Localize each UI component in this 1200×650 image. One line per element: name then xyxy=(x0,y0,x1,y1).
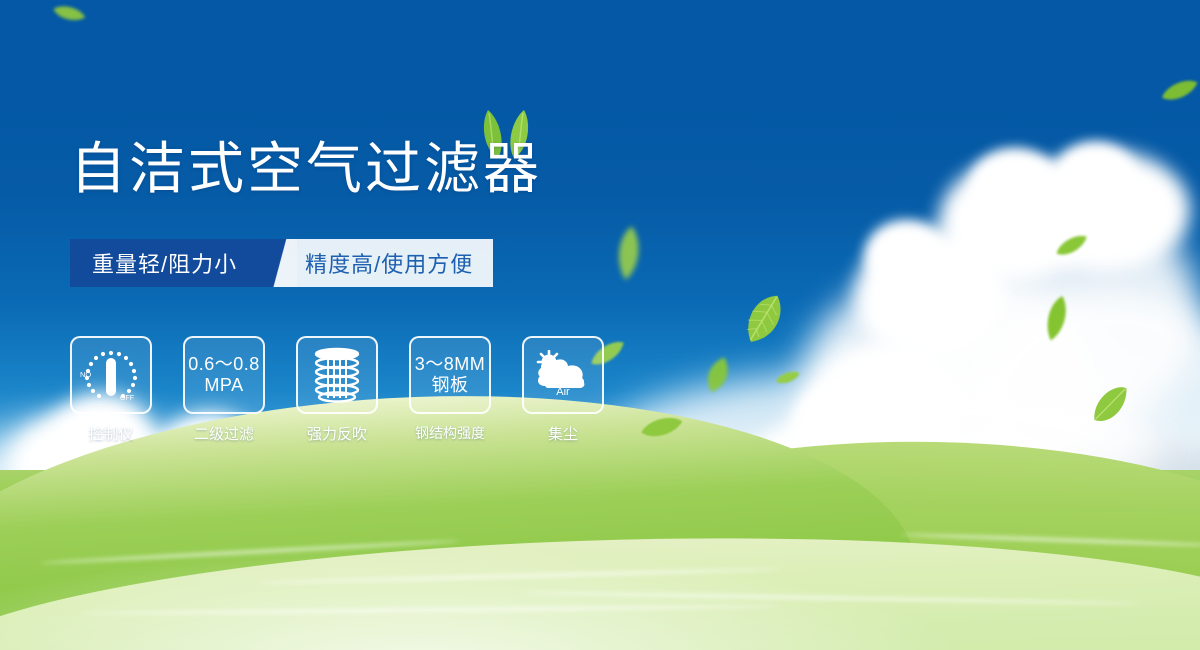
feature-item[interactable]: NO OFF 控制仪 xyxy=(70,336,152,444)
feature-label: 强力反吹 xyxy=(307,423,367,444)
feature-item[interactable]: 强力反吹 xyxy=(296,336,378,444)
pressure-line-1: 0.6～0.8 xyxy=(188,354,260,375)
control-dial-icon: NO OFF xyxy=(70,336,152,414)
subtitle-bar: 重量轻/阻力小 精度高/使用方便 xyxy=(70,239,493,287)
subtitle-divider xyxy=(267,239,297,287)
feature-label: 集尘 xyxy=(548,423,578,444)
cloud-air-label: Air xyxy=(556,386,570,396)
feature-item[interactable]: Air 集尘 xyxy=(522,336,604,444)
banner-stage: 自洁式空气过滤器 重量轻/阻力小 精度高/使用方便 xyxy=(0,0,1200,650)
steel-line-2: 钢板 xyxy=(432,375,469,396)
svg-text:NO: NO xyxy=(80,370,91,379)
filter-cartridge-icon xyxy=(296,336,378,414)
feature-label: 二级过滤 xyxy=(194,423,254,444)
cloud-air-icon: Air xyxy=(522,336,604,414)
subtitle-left: 重量轻/阻力小 xyxy=(70,239,267,287)
pressure-text-icon: 0.6～0.8 MPA xyxy=(183,336,265,414)
subtitle-right: 精度高/使用方便 xyxy=(297,239,493,287)
page-title: 自洁式空气过滤器 xyxy=(70,141,542,197)
steel-line-1: 3～8MM xyxy=(415,354,486,375)
feature-label: 钢结构强度 xyxy=(415,423,485,443)
feature-item[interactable]: 3～8MM 钢板 钢结构强度 xyxy=(409,336,491,444)
feature-item[interactable]: 0.6～0.8 MPA 二级过滤 xyxy=(183,336,265,444)
feature-list: NO OFF 控制仪 0.6～0.8 MPA 二级过滤 xyxy=(70,336,604,444)
banner-content: 自洁式空气过滤器 重量轻/阻力小 精度高/使用方便 xyxy=(0,0,1200,650)
steel-plate-text-icon: 3～8MM 钢板 xyxy=(409,336,491,414)
pressure-line-2: MPA xyxy=(204,375,243,396)
feature-label: 控制仪 xyxy=(88,423,133,444)
svg-text:OFF: OFF xyxy=(120,395,134,402)
